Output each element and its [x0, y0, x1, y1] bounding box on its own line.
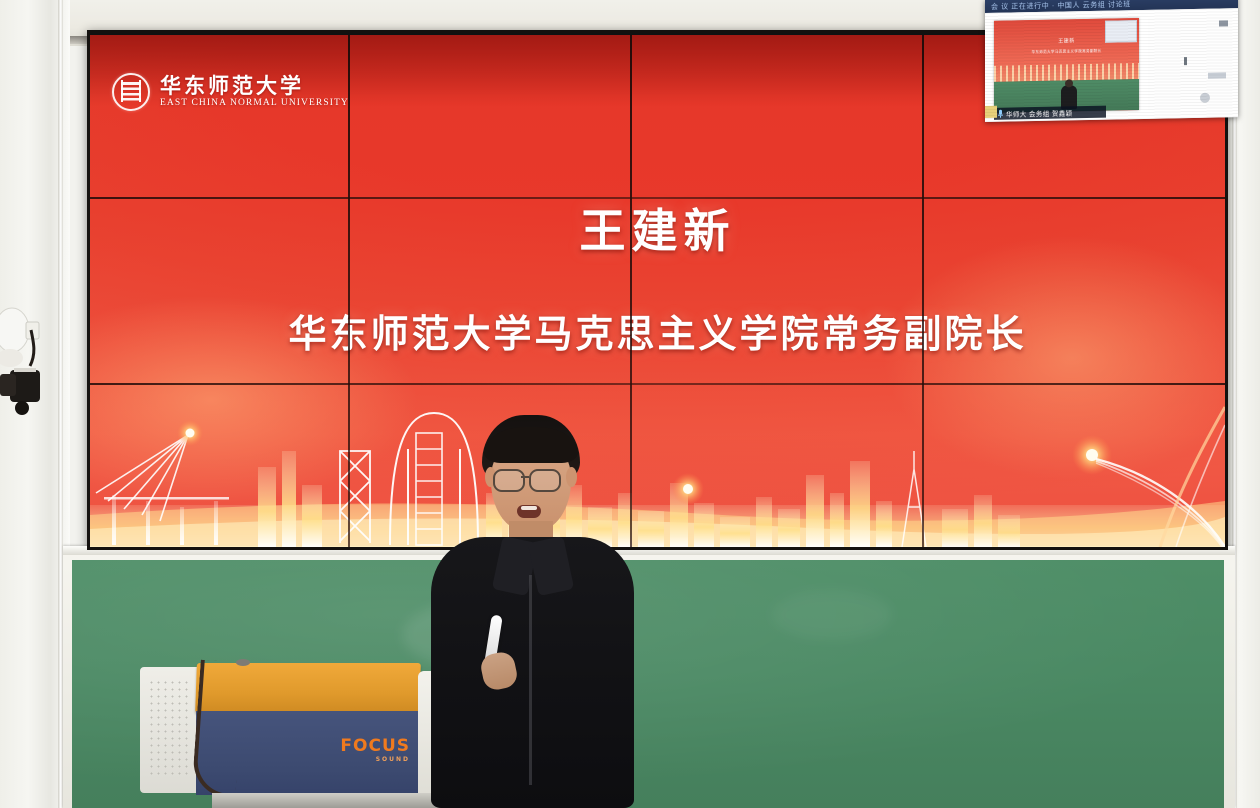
university-name-cn: 华东师范大学: [160, 75, 349, 96]
led-panel-seam-h1: [90, 197, 1225, 199]
glasses-icon: [493, 469, 525, 492]
city-skyline-artwork: [90, 397, 1225, 547]
lectern-left-speaker: [140, 667, 202, 793]
speaker-grille: [148, 679, 192, 779]
vc-participant-label: 华师大 会务组 贺鑫颖: [994, 106, 1106, 120]
presenter-speaker: [425, 415, 640, 808]
vc-content-panel[interactable]: [1148, 16, 1232, 110]
vc-self-view[interactable]: 王建新 华东师范大学马克思主义学院常务副院长: [994, 18, 1139, 113]
lectern-brand-logo: FOCUS SOUND: [340, 736, 410, 763]
lecture-hall-photo: 华东师范大学 EAST CHINA NORMAL UNIVERSITY 王建新 …: [0, 0, 1260, 808]
glasses-icon: [529, 469, 561, 492]
university-name-en: EAST CHINA NORMAL UNIVERSITY: [160, 99, 349, 109]
university-seal-icon: [112, 73, 150, 111]
vc-avatar-stub: [1200, 93, 1210, 103]
glasses-bridge: [521, 476, 529, 478]
presenter-jacket: [431, 537, 634, 808]
microphone-icon[interactable]: [998, 110, 1003, 118]
chalkboard-rail: [63, 546, 1235, 555]
video-conference-window[interactable]: 会 议 正在进行中 · 中国人 云务组 讨论班 王建新 华东师范大学马克思主义学…: [985, 0, 1238, 122]
led-panel-seam-h2: [90, 383, 1225, 385]
presenter-hair-front: [484, 427, 578, 463]
vc-avatar-icon: [985, 106, 997, 118]
vc-body: 王建新 华东师范大学马克思主义学院常务副院长 华师大 会务组 贺鑫颖: [985, 8, 1238, 122]
vc-button-stub[interactable]: [1208, 72, 1226, 78]
slide-speaker-title: 华东师范大学马克思主义学院常务副院长: [90, 303, 1225, 358]
board-smudge: [772, 590, 892, 640]
led-panel-seam-v1: [348, 35, 350, 547]
vc-shared-corner-panel: [1105, 20, 1137, 43]
vc-window-controls-icon[interactable]: [1219, 20, 1228, 26]
vc-pointer-icon: [1184, 57, 1187, 65]
presenter-ear-right: [566, 467, 577, 487]
slide-speaker-name: 王建新: [90, 195, 1225, 261]
vc-participant-name: 华师大 会务组 贺鑫颖: [1006, 107, 1073, 118]
presenter-jacket-placket: [529, 575, 532, 785]
university-logo: 华东师范大学 EAST CHINA NORMAL UNIVERSITY: [112, 73, 349, 111]
led-panel-seam-v3: [922, 35, 924, 547]
lectern-knob[interactable]: [236, 659, 250, 666]
presenter-mouth: [517, 505, 541, 518]
ceiling-camera-icon: [0, 300, 70, 440]
